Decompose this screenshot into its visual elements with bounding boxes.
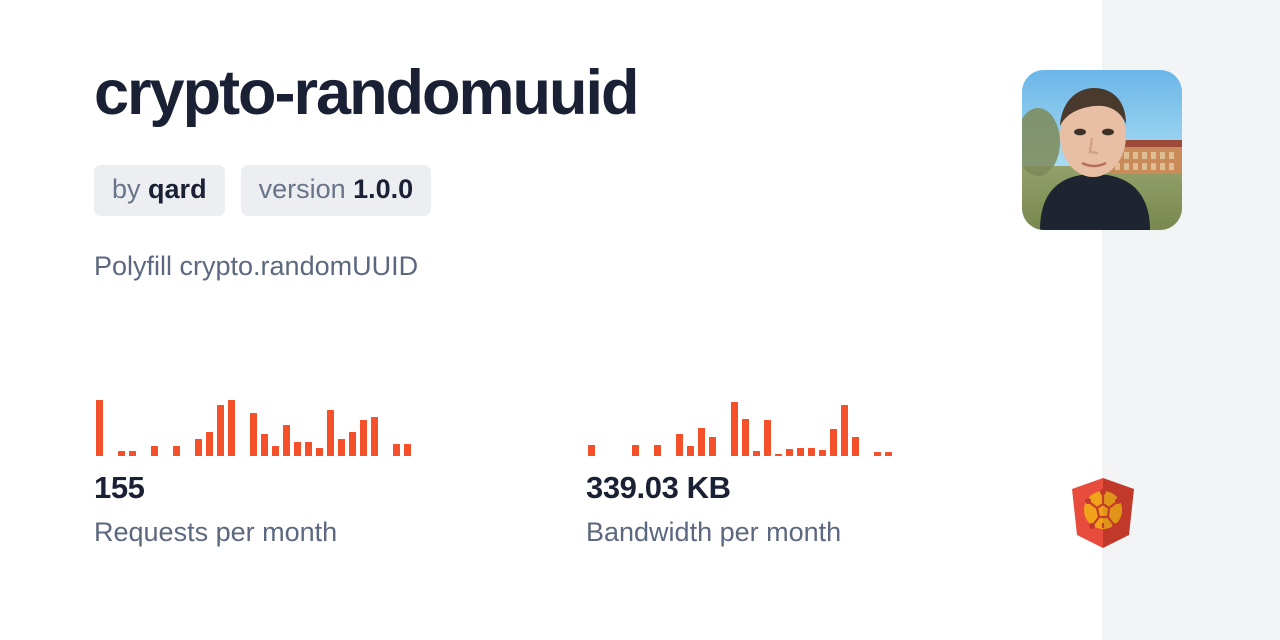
chart-bar [118,451,125,456]
chart-bar-slot [828,398,839,456]
chart-bar [272,446,279,456]
chart-bar [698,428,705,456]
chart-bar-slot [784,398,795,456]
chart-bar-slot [314,398,325,456]
chart-bar-slot [413,398,424,456]
user-avatar-photo [1022,70,1182,230]
chart-bar [338,439,345,456]
version-number: 1.0.0 [353,174,413,204]
chart-bar [206,432,213,456]
chart-bar-slot [204,398,215,456]
package-description: Polyfill crypto.randomUUID [94,251,418,282]
chart-bar [371,417,378,456]
stat-block-bandwidth: 339.03 KB Bandwidth per month [586,398,1078,548]
chart-bar [393,444,400,456]
author-prefix-label: by [112,174,141,204]
chart-bar-slot [182,398,193,456]
chart-bar [294,442,301,457]
chart-bar-slot [369,398,380,456]
avatar[interactable] [1022,70,1182,230]
chart-bar-slot [281,398,292,456]
chart-bar-slot [597,398,608,456]
chart-bar [316,448,323,456]
chart-bar-slot [696,398,707,456]
chart-bar-slot [718,398,729,456]
chart-bar-slot [215,398,226,456]
chart-bar-slot [608,398,619,456]
chart-bar-slot [391,398,402,456]
author-badge[interactable]: by qard [94,165,225,216]
chart-bar [797,448,804,456]
chart-bar-slot [105,398,116,456]
chart-bar-slot [270,398,281,456]
chart-bar [173,446,180,456]
page-title: crypto-randomuuid [94,62,638,125]
stats-row: 155 Requests per month 339.03 KB Bandwid… [94,398,1078,548]
chart-bar-slot [127,398,138,456]
chart-bar-slot [872,398,883,456]
chart-bar-slot [674,398,685,456]
chart-bar-slot [839,398,850,456]
package-page: crypto-randomuuid by qard version 1.0.0 … [0,0,1280,640]
chart-bar [775,454,782,456]
chart-bar [217,405,224,456]
chart-bar-slot [336,398,347,456]
chart-bar-slot [806,398,817,456]
meta-badges: by qard version 1.0.0 [94,165,431,216]
chart-bar [676,434,683,456]
chart-bar-slot [740,398,751,456]
requests-sparkline-chart [94,398,424,456]
chart-bar-slot [905,398,916,456]
chart-bar [151,446,158,456]
chart-bar [261,434,268,456]
chart-bar-slot [259,398,270,456]
chart-bar [709,437,716,456]
chart-bar [129,451,136,456]
bandwidth-sparkline-chart [586,398,916,456]
chart-bar [404,444,411,456]
chart-bar-slot [347,398,358,456]
chart-bar [841,405,848,456]
chart-bar-slot [248,398,259,456]
chart-bar [808,448,815,456]
chart-bar-slot [303,398,314,456]
chart-bar-slot [226,398,237,456]
requests-value: 155 [94,469,586,508]
chart-bar-slot [883,398,894,456]
chart-bar [327,410,334,456]
jsdelivr-logo-icon [1072,478,1134,548]
version-badge[interactable]: version 1.0.0 [241,165,432,216]
chart-bar [786,449,793,456]
chart-bar-slot [171,398,182,456]
chart-bar-slot [292,398,303,456]
chart-bar-slot [619,398,630,456]
chart-bar [687,446,694,456]
chart-bar [305,442,312,457]
chart-bar [250,413,257,457]
chart-bar-slot [773,398,784,456]
chart-bar-slot [586,398,597,456]
chart-bar-slot [641,398,652,456]
chart-bar [874,452,881,456]
chart-bar [96,400,103,456]
chart-bar-slot [138,398,149,456]
chart-bar-slot [663,398,674,456]
requests-label: Requests per month [94,516,586,548]
chart-bar-slot [160,398,171,456]
chart-bar [632,445,639,456]
chart-bar-slot [380,398,391,456]
chart-bar-slot [325,398,336,456]
chart-bar-slot [817,398,828,456]
chart-bar [360,420,367,456]
chart-bar [885,452,892,456]
chart-bar [349,432,356,456]
author-name: qard [148,174,207,204]
jsdelivr-logo[interactable] [1072,478,1134,548]
chart-bar [852,437,859,456]
main-content: crypto-randomuuid by qard version 1.0.0 … [94,0,1094,640]
chart-bar-slot [652,398,663,456]
version-prefix-label: version [259,174,346,204]
chart-bar [731,402,738,456]
chart-bar-slot [894,398,905,456]
chart-bar-slot [116,398,127,456]
chart-bar [195,439,202,456]
bandwidth-value: 339.03 KB [586,469,1078,508]
chart-bar-slot [729,398,740,456]
chart-bar [588,445,595,456]
chart-bar-slot [707,398,718,456]
chart-bar-slot [94,398,105,456]
chart-bar-slot [850,398,861,456]
chart-bar [819,450,826,456]
chart-bar-slot [237,398,248,456]
chart-bar-slot [861,398,872,456]
chart-bar-slot [149,398,160,456]
bandwidth-label: Bandwidth per month [586,516,1078,548]
chart-bar [228,400,235,456]
chart-bar-slot [630,398,641,456]
chart-bar [764,420,771,456]
chart-bar-slot [795,398,806,456]
chart-bar [830,429,837,456]
chart-bar [753,451,760,456]
chart-bar-slot [762,398,773,456]
chart-bar-slot [193,398,204,456]
chart-bar [283,425,290,456]
chart-bar [742,419,749,456]
chart-bar-slot [685,398,696,456]
chart-bar [654,445,661,456]
chart-bar-slot [751,398,762,456]
stat-block-requests: 155 Requests per month [94,398,586,548]
chart-bar-slot [358,398,369,456]
chart-bar-slot [402,398,413,456]
